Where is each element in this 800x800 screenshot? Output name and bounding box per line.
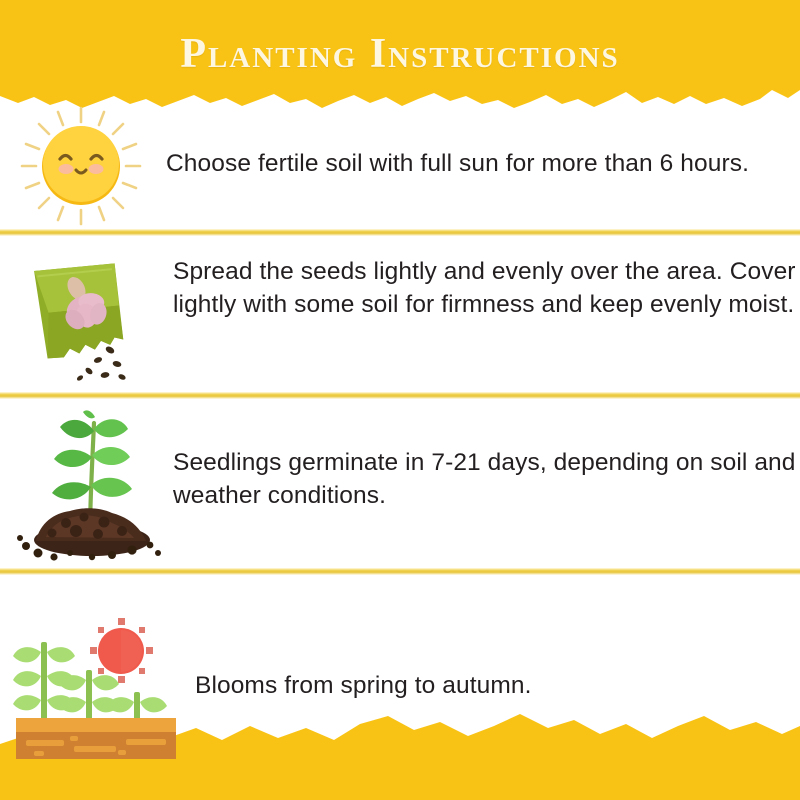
infographic-page: Planting Instructions — [0, 0, 800, 800]
section-seedling: Seedlings germinate in 7-21 days, depend… — [0, 399, 800, 567]
divider-1 — [0, 229, 800, 236]
section-garden-text: Blooms from spring to autumn. — [195, 670, 795, 703]
header-banner: Planting Instructions — [0, 0, 800, 116]
section-sun: Choose fertile soil with full sun for mo… — [0, 116, 800, 226]
section-seed-packet: Spread the seeds lightly and evenly over… — [0, 236, 800, 388]
section-sun-text: Choose fertile soil with full sun for mo… — [166, 148, 796, 181]
sun-smiling-icon — [16, 106, 146, 226]
divider-3 — [0, 568, 800, 575]
page-title: Planting Instructions — [0, 30, 800, 78]
seed-packet-icon — [22, 244, 152, 384]
garden-bed-with-sun-icon — [10, 600, 200, 755]
section-seed-packet-text: Spread the seeds lightly and evenly over… — [173, 256, 798, 321]
section-seedling-text: Seedlings germinate in 7-21 days, depend… — [173, 447, 798, 512]
divider-2 — [0, 392, 800, 399]
seedling-in-soil-icon — [12, 407, 172, 562]
